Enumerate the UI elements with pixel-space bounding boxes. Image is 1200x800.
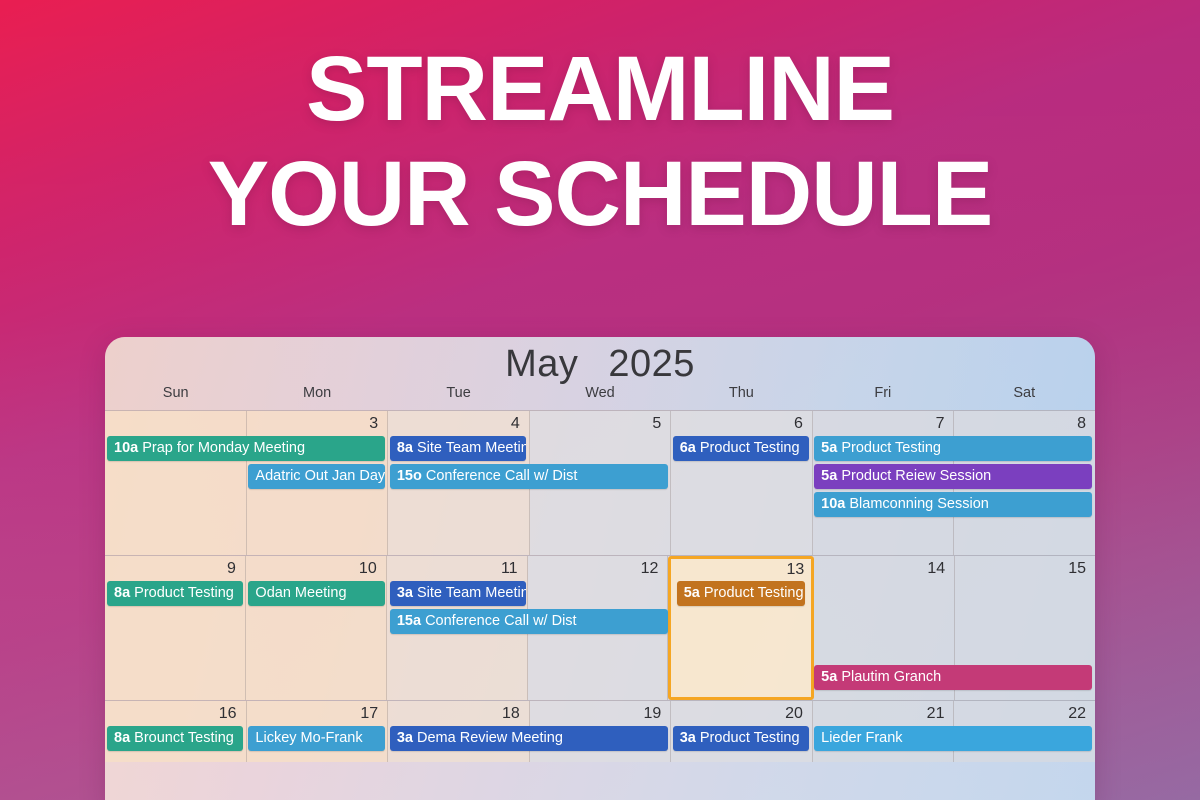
event-label: Plautim Granch	[841, 669, 941, 685]
event-time: 6a	[680, 440, 696, 456]
event-time: 8a	[114, 730, 130, 746]
day-cell[interactable]: 10	[246, 556, 387, 700]
weekday-header-sat: Sat	[954, 385, 1095, 410]
event-label: Prap for Monday Meeting	[142, 440, 305, 456]
event-time: 3a	[397, 730, 413, 746]
headline: STREAMLINE YOUR SCHEDULE	[0, 46, 1200, 239]
event-label: Product Testing	[700, 730, 800, 746]
weekday-header-wed: Wed	[529, 385, 670, 410]
event-time: 10a	[821, 496, 845, 512]
event-time: 3a	[680, 730, 696, 746]
event-label: Product Testing	[134, 585, 234, 601]
event-label: Product Testing	[704, 585, 804, 601]
event-label: Blamconning Session	[849, 496, 988, 512]
day-number: 10	[359, 560, 377, 578]
calendar-header: May 2025 SunMonTueWedThuFriSat	[105, 337, 1095, 410]
calendar-event[interactable]: Odan Meeting	[248, 581, 384, 606]
calendar-title-row: May 2025	[105, 337, 1095, 385]
day-cell[interactable]: 6	[671, 411, 813, 555]
calendar-event[interactable]: 10a Prap for Monday Meeting	[107, 436, 385, 461]
weekday-header-thu: Thu	[671, 385, 812, 410]
calendar-event[interactable]: 3a Dema Review Meeting	[390, 726, 668, 751]
calendar-card: May 2025 SunMonTueWedThuFriSat 34567810a…	[105, 337, 1095, 800]
day-number: 6	[794, 415, 803, 433]
weekday-header-fri: Fri	[812, 385, 953, 410]
day-number: 16	[219, 705, 237, 723]
day-number: 12	[641, 560, 659, 578]
calendar-event[interactable]: 10a Blamconning Session	[814, 492, 1092, 517]
calendar-event[interactable]: 6a Product Testing	[673, 436, 809, 461]
event-label: Brounct Testing	[134, 730, 234, 746]
event-time: 3a	[397, 585, 413, 601]
calendar-weeks: 34567810a Prap for Monday MeetingAdatric…	[105, 410, 1095, 762]
event-time: 15a	[397, 613, 421, 629]
calendar-event[interactable]: 15o Conference Call w/ Dist	[390, 464, 668, 489]
calendar-event[interactable]: 8a Site Team Meeting	[390, 436, 526, 461]
calendar-event[interactable]: Lickey Mo-Frank	[248, 726, 384, 751]
year-label: 2025	[608, 343, 695, 386]
day-number: 8	[1077, 415, 1086, 433]
calendar-event[interactable]: 5a Plautim Granch	[814, 665, 1092, 690]
event-label: Adatric Out Jan Dayi	[255, 468, 384, 484]
event-time: 15o	[397, 468, 422, 484]
event-label: Product Testing	[841, 440, 941, 456]
event-label: Product Reiew Session	[841, 468, 991, 484]
calendar-event[interactable]: 5a Product Testing	[814, 436, 1092, 461]
headline-line-1: STREAMLINE	[0, 46, 1200, 133]
day-number: 4	[511, 415, 520, 433]
event-label: Lickey Mo-Frank	[255, 730, 362, 746]
weekday-header-sun: Sun	[105, 385, 246, 410]
day-number: 13	[787, 561, 805, 579]
calendar-event[interactable]: 8a Brounct Testing	[107, 726, 243, 751]
day-cell[interactable]	[105, 411, 247, 555]
event-time: 10a	[114, 440, 138, 456]
headline-line-2: YOUR SCHEDULE	[0, 151, 1200, 238]
calendar-event[interactable]: 3a Site Team Meeting	[390, 581, 526, 606]
day-number: 11	[501, 560, 518, 578]
event-label: Conference Call w/ Dist	[426, 468, 578, 484]
day-number: 20	[785, 705, 803, 723]
weekday-header-tue: Tue	[388, 385, 529, 410]
calendar-week-row: 34567810a Prap for Monday MeetingAdatric…	[105, 410, 1095, 555]
event-time: 5a	[821, 669, 837, 685]
day-number: 14	[927, 560, 945, 578]
calendar-event[interactable]: 3a Product Testing	[673, 726, 809, 751]
event-label: Lieder Frank	[821, 730, 902, 746]
day-cell[interactable]: 9	[105, 556, 246, 700]
weekday-header-row: SunMonTueWedThuFriSat	[105, 385, 1095, 410]
day-number: 7	[936, 415, 945, 433]
calendar-week-row: 91011121314158a Product TestingOdan Meet…	[105, 555, 1095, 700]
event-time: 5a	[821, 440, 837, 456]
day-number: 18	[502, 705, 520, 723]
event-time: 5a	[821, 468, 837, 484]
day-number: 17	[360, 705, 378, 723]
day-cell-selected[interactable]: 13	[668, 556, 814, 700]
weekday-header-mon: Mon	[246, 385, 387, 410]
calendar-week-row: 161718192021228a Brounct TestingLickey M…	[105, 700, 1095, 762]
calendar-event[interactable]: 5a Product Testing	[677, 581, 805, 606]
event-label: Site Team Meeting	[417, 440, 526, 456]
event-label: Dema Review Meeting	[417, 730, 563, 746]
calendar-event[interactable]: 15a Conference Call w/ Dist	[390, 609, 668, 634]
calendar-event[interactable]: 8a Product Testing	[107, 581, 243, 606]
event-label: Odan Meeting	[255, 585, 346, 601]
event-label: Product Testing	[700, 440, 800, 456]
day-number: 5	[652, 415, 661, 433]
day-number: 9	[227, 560, 236, 578]
event-time: 8a	[397, 440, 413, 456]
day-number: 19	[644, 705, 662, 723]
day-number: 3	[369, 415, 378, 433]
day-number: 21	[927, 705, 945, 723]
day-number: 15	[1068, 560, 1086, 578]
day-number: 22	[1068, 705, 1086, 723]
calendar-event[interactable]: 5a Product Reiew Session	[814, 464, 1092, 489]
event-label: Conference Call w/ Dist	[425, 613, 577, 629]
event-time: 8a	[114, 585, 130, 601]
calendar-event[interactable]: Lieder Frank	[814, 726, 1092, 751]
event-label: Site Team Meeting	[417, 585, 526, 601]
month-label: May	[505, 343, 578, 386]
event-time: 5a	[684, 585, 700, 601]
calendar-event[interactable]: Adatric Out Jan Dayi	[248, 464, 384, 489]
